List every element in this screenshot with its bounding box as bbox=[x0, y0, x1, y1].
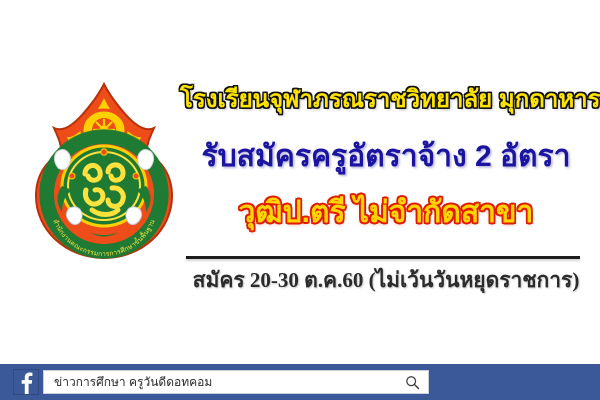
section-divider bbox=[186, 256, 580, 259]
facebook-search-input[interactable]: ข่าวการศึกษา ครูวันดีดอทคอม bbox=[54, 373, 212, 392]
facebook-footer-bar: ข่าวการศึกษา ครูวันดีดอทคอม bbox=[0, 364, 600, 400]
emblem-lotus-left bbox=[54, 150, 70, 170]
application-period-text: สมัคร 20-30 ต.ค.60 (ไม่เว้นวันหยุดราชการ… bbox=[180, 270, 592, 291]
poster-image: สำนักงานคณะกรรมการการศึกษาขั้นพื้นฐาน bbox=[0, 0, 600, 400]
facebook-f-icon[interactable] bbox=[13, 369, 39, 395]
emblem-artwork: สำนักงานคณะกรรมการการศึกษาขั้นพื้นฐาน bbox=[28, 82, 180, 268]
announcement-text-block: โรงเรียนจุฬาภรณราชวิทยาลัย มุกดาหาร รับส… bbox=[180, 80, 592, 320]
school-name-headline: โรงเรียนจุฬาภรณราชวิทยาลัย มุกดาหาร bbox=[180, 88, 592, 112]
emblem-lotus-right bbox=[138, 150, 154, 170]
position-subheading: รับสมัครครูอัตราจ้าง 2 อัตรา bbox=[180, 142, 592, 172]
obec-ministry-of-education-emblem: สำนักงานคณะกรรมการการศึกษาขั้นพื้นฐาน bbox=[28, 82, 180, 268]
facebook-search-box[interactable]: ข่าวการศึกษา ครูวันดีดอทคอม bbox=[43, 370, 429, 394]
magnifier-icon[interactable] bbox=[405, 375, 420, 390]
qualification-heading: วุฒิป.ตรี ไม่จำกัดสาขา bbox=[180, 198, 592, 228]
